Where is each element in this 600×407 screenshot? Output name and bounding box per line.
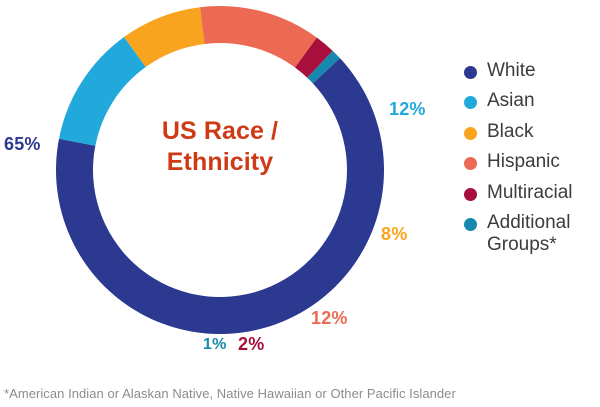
legend-item-label: Black: [487, 121, 533, 143]
value-label-hispanic: 12%: [311, 308, 348, 329]
legend-item-multiracial[interactable]: Multiracial: [464, 182, 600, 204]
legend-swatch-icon: [464, 127, 477, 140]
legend-swatch-icon: [464, 218, 477, 231]
value-label-asian: 12%: [389, 99, 426, 120]
value-label-white: 65%: [4, 134, 41, 155]
donut-slice-asian[interactable]: [59, 37, 146, 146]
legend-swatch-icon: [464, 157, 477, 170]
legend-swatch-icon: [464, 188, 477, 201]
value-label-black: 8%: [381, 224, 407, 245]
legend-swatch-icon: [464, 96, 477, 109]
chart-footnote: *American Indian or Alaskan Native, Nati…: [4, 386, 456, 401]
donut-segments: [55, 5, 385, 335]
legend-item-label: Additional Groups*: [487, 212, 600, 257]
legend-item-label: White: [487, 60, 536, 82]
legend-item-asian[interactable]: Asian: [464, 90, 600, 112]
legend-item-label: Multiracial: [487, 182, 573, 204]
legend-item-black[interactable]: Black: [464, 121, 600, 143]
legend-item-label: Asian: [487, 90, 535, 112]
legend-item-additional-groups[interactable]: Additional Groups*: [464, 212, 600, 257]
donut-ring: [55, 5, 385, 335]
legend-swatch-icon: [464, 66, 477, 79]
value-label-multiracial: 2%: [238, 334, 264, 355]
value-label-additional-groups: 1%: [203, 336, 227, 354]
legend-item-white[interactable]: White: [464, 60, 600, 82]
donut-slice-hispanic[interactable]: [200, 6, 317, 68]
donut-chart: US Race / Ethnicity 65% 12% 8% 12% 2% 1%: [0, 0, 450, 375]
legend-item-hispanic[interactable]: Hispanic: [464, 151, 600, 173]
chart-legend: WhiteAsianBlackHispanicMultiracialAdditi…: [464, 60, 600, 265]
legend-item-label: Hispanic: [487, 151, 560, 173]
